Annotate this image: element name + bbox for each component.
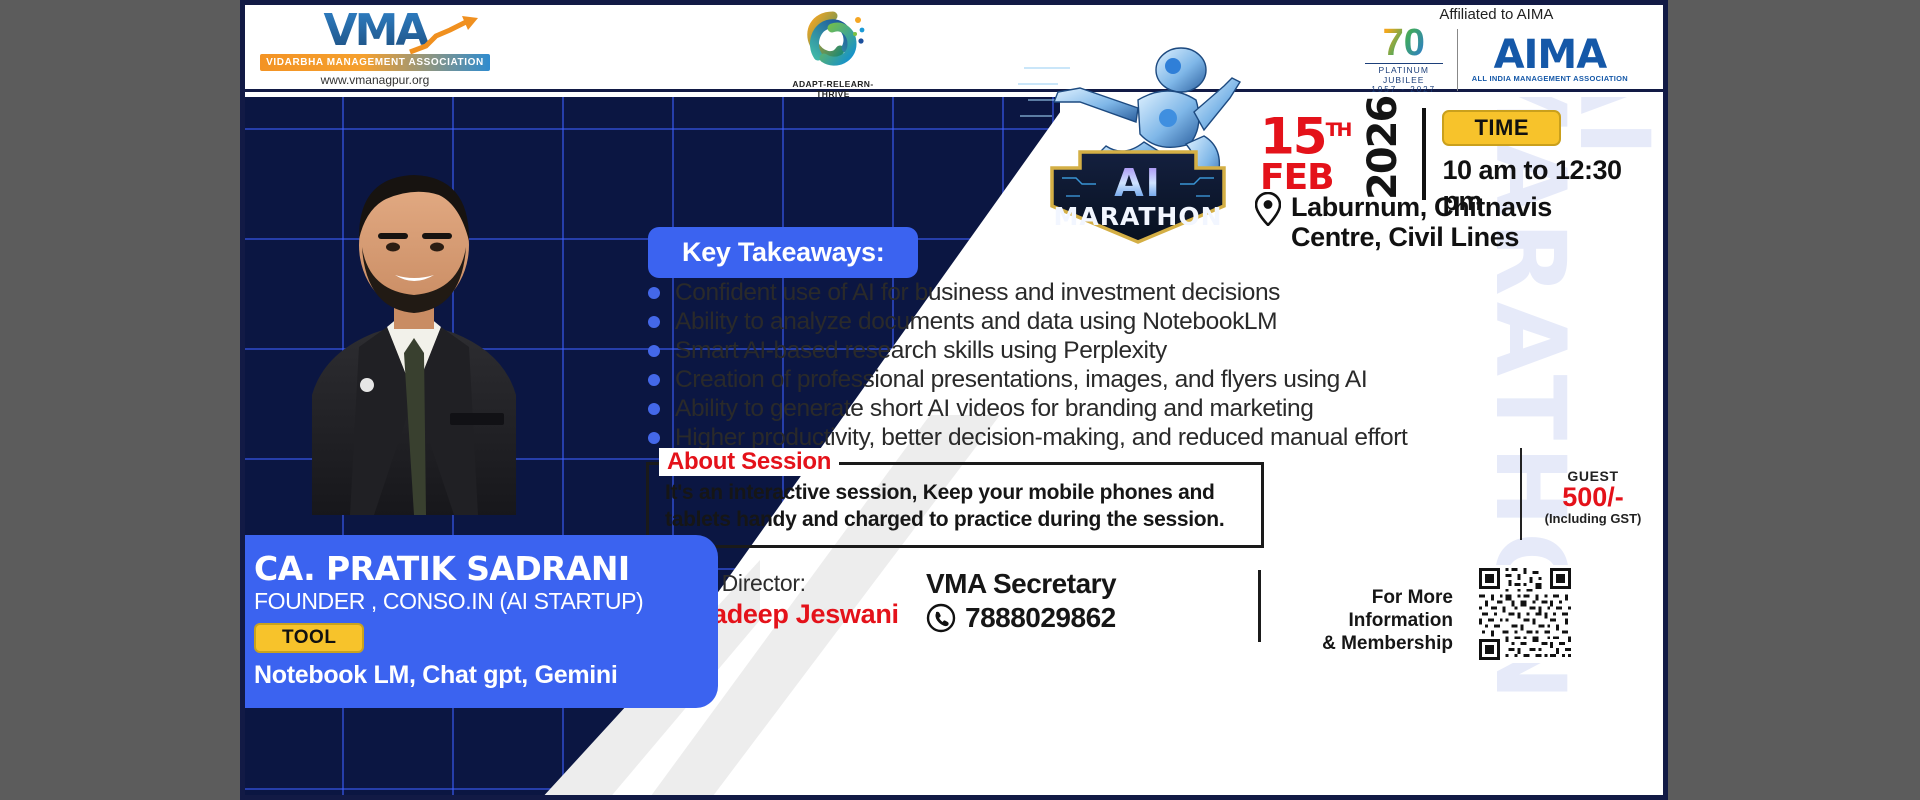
bullet-icon xyxy=(648,345,660,357)
footer-divider xyxy=(1258,570,1261,642)
key-takeaways-heading: Key Takeaways: xyxy=(648,227,918,278)
aima-full-name: ALL INDIA MANAGEMENT ASSOCIATION xyxy=(1472,74,1628,83)
about-session-line-1: It's an interactive session, Keep your m… xyxy=(665,479,1245,506)
bullet-icon xyxy=(648,287,660,299)
event-month: FEB xyxy=(1260,159,1350,197)
secretary-phone[interactable]: 7888029862 xyxy=(965,602,1116,634)
event-year: 2026 xyxy=(1360,108,1406,200)
guest-fee: GUEST 500/- (Including GST) xyxy=(1528,468,1658,526)
speaker-photo xyxy=(254,95,574,515)
growth-arrow-icon xyxy=(406,16,484,56)
vma-logo: VMA VIDARBHA MANAGEMENT ASSOCIATION www.… xyxy=(260,8,490,87)
jubilee-label: PLATINUM JUBILEE xyxy=(1365,63,1443,85)
list-item: Ability to analyze documents and data us… xyxy=(648,309,1588,335)
more-info-line-2: & Membership xyxy=(1278,632,1453,655)
venue-line-1: Laburnum, Chitnavis xyxy=(1291,192,1552,222)
vma-secretary: VMA Secretary 7888029862 xyxy=(926,568,1116,634)
key-takeaways-list: Confident use of AI for business and inv… xyxy=(648,280,1588,454)
qr-code[interactable] xyxy=(1476,565,1574,663)
adapt-relearn-thrive-logo: ADAPT-RELEARN-THRIVE xyxy=(778,10,888,99)
ai-marathon-logo: AI MARATHON xyxy=(1018,20,1258,245)
list-item: Creation of professional presentations, … xyxy=(648,367,1588,393)
guest-divider xyxy=(1520,448,1522,540)
time-label: TIME xyxy=(1442,110,1561,146)
takeaway-text: Ability to generate short AI videos for … xyxy=(675,396,1313,422)
poster-header: VMA VIDARBHA MANAGEMENT ASSOCIATION www.… xyxy=(240,0,1668,97)
aima-logo-mark: AIMA xyxy=(1472,36,1628,74)
list-item: Smart AI-based research skills using Per… xyxy=(648,338,1588,364)
aima-affiliation-text: Affiliated to AIMA xyxy=(1365,6,1628,23)
more-info-line-1: For More Information xyxy=(1278,586,1453,632)
bullet-icon xyxy=(648,316,660,328)
infinity-knot-icon xyxy=(800,10,866,72)
takeaway-text: Smart AI-based research skills using Per… xyxy=(675,338,1167,364)
badge-marathon-text: MARATHON xyxy=(1053,202,1222,231)
speaker-tools: Notebook LM, Chat gpt, Gemini xyxy=(254,661,694,690)
event-venue: Laburnum, Chitnavis Centre, Civil Lines xyxy=(1255,192,1552,252)
vma-full-name: VIDARBHA MANAGEMENT ASSOCIATION xyxy=(260,54,490,71)
guest-gst-note: (Including GST) xyxy=(1528,511,1658,526)
phone-icon xyxy=(926,603,956,633)
about-session-line-2: tablets handy and charged to practice du… xyxy=(665,506,1245,533)
platinum-jubilee-logo: 70 PLATINUM JUBILEE 1957 - 2027 xyxy=(1365,25,1443,94)
list-item: Ability to generate short AI videos for … xyxy=(648,396,1588,422)
location-pin-icon xyxy=(1255,192,1281,226)
jubilee-years: 1957 - 2027 xyxy=(1365,85,1443,94)
guest-amount: 500/- xyxy=(1528,484,1658,511)
divider xyxy=(1422,108,1426,200)
jubilee-number: 70 xyxy=(1365,25,1443,61)
event-date: 15TH FEB xyxy=(1260,108,1350,197)
bullet-icon xyxy=(648,374,660,386)
takeaway-text: Ability to analyze documents and data us… xyxy=(675,309,1277,335)
speaker-name: CA. PRATIK SADRANI xyxy=(254,551,694,587)
about-session-title: About Session xyxy=(659,448,839,476)
event-poster: AI MARATHON xyxy=(240,0,1668,800)
speaker-name-card: CA. PRATIK SADRANI FOUNDER , CONSO.IN (A… xyxy=(240,535,718,708)
takeaway-text: Creation of professional presentations, … xyxy=(675,367,1367,393)
badge-ai-text: AI xyxy=(1114,161,1162,205)
divider xyxy=(1457,29,1458,91)
about-session-box: About Session It's an interactive sessio… xyxy=(646,462,1264,548)
event-day-suffix: TH xyxy=(1326,119,1351,141)
bullet-icon xyxy=(648,432,660,444)
aima-logo: AIMA ALL INDIA MANAGEMENT ASSOCIATION xyxy=(1472,36,1628,83)
bullet-icon xyxy=(648,403,660,415)
vma-website[interactable]: www.vmanagpur.org xyxy=(260,73,490,87)
takeaway-text: Confident use of AI for business and inv… xyxy=(675,280,1280,306)
venue-line-2: Centre, Civil Lines xyxy=(1291,222,1552,252)
list-item: Confident use of AI for business and inv… xyxy=(648,280,1588,306)
poster-footer: Project Director: Mr.Pradeep Jeswani VMA… xyxy=(646,570,1646,800)
tool-label: TOOL xyxy=(254,623,364,653)
speaker-role: FOUNDER , CONSO.IN (AI STARTUP) xyxy=(254,587,694,615)
thrive-tagline: ADAPT-RELEARN-THRIVE xyxy=(778,79,888,99)
aima-affiliation-block: Affiliated to AIMA 70 PLATINUM JUBILEE 1… xyxy=(1365,6,1628,94)
secretary-label: VMA Secretary xyxy=(926,568,1116,600)
more-info-text: For More Information & Membership xyxy=(1278,586,1453,655)
